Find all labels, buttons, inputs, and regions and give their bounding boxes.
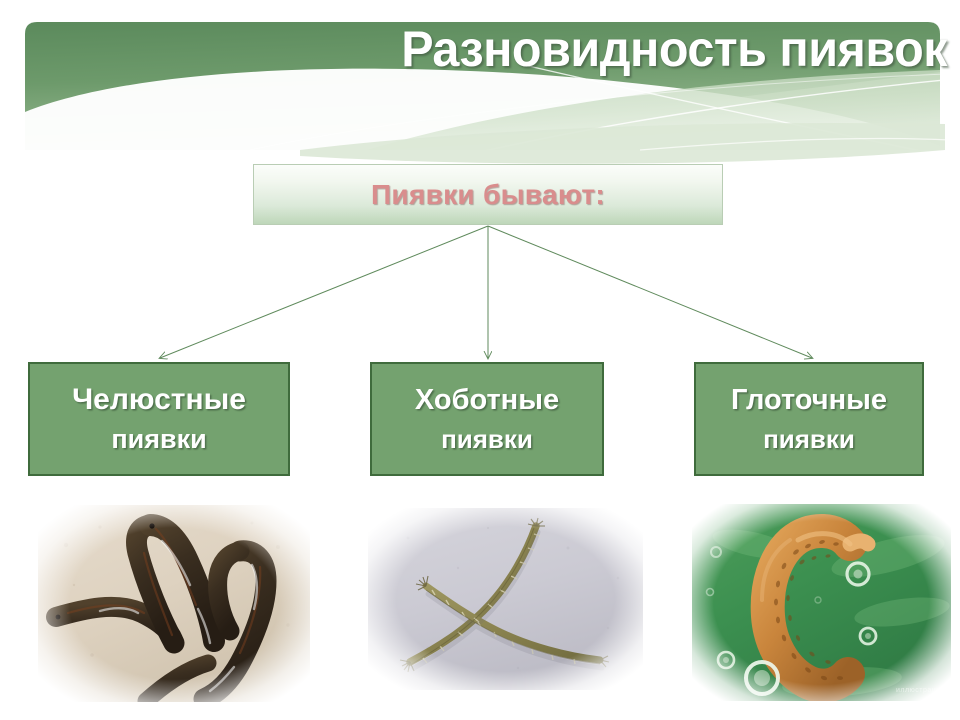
category-box-jawed[interactable]: Челюстные пиявки	[28, 362, 290, 476]
connector-line-right	[488, 226, 812, 358]
category-label-line2: пиявки	[111, 420, 206, 458]
category-label-line1: Хоботные	[415, 380, 559, 420]
root-node-label: Пиявки бывают:	[371, 179, 605, 211]
proboscis-leeches-photo	[368, 508, 643, 690]
root-node-box[interactable]: Пиявки бывают:	[253, 164, 723, 225]
header-banner: Разновидность пиявок	[0, 0, 960, 175]
photo-watermark: иллюстрация	[896, 687, 945, 694]
category-label-line2: пиявки	[763, 420, 855, 458]
category-label-line1: Глоточные	[731, 380, 887, 420]
category-box-pharyngeal[interactable]: Глоточные пиявки	[694, 362, 924, 476]
pharyngeal-leech-photo: иллюстрация	[692, 504, 951, 701]
category-label-line1: Челюстные	[72, 380, 246, 420]
category-box-proboscis[interactable]: Хоботные пиявки	[370, 362, 604, 476]
connector-line-left	[160, 226, 488, 358]
slide-canvas: Разновидность пиявок Пиявки бывают: Челю…	[0, 0, 960, 720]
jawed-leeches-photo	[38, 505, 310, 702]
page-title: Разновидность пиявок	[28, 20, 947, 78]
category-label-line2: пиявки	[441, 420, 533, 458]
